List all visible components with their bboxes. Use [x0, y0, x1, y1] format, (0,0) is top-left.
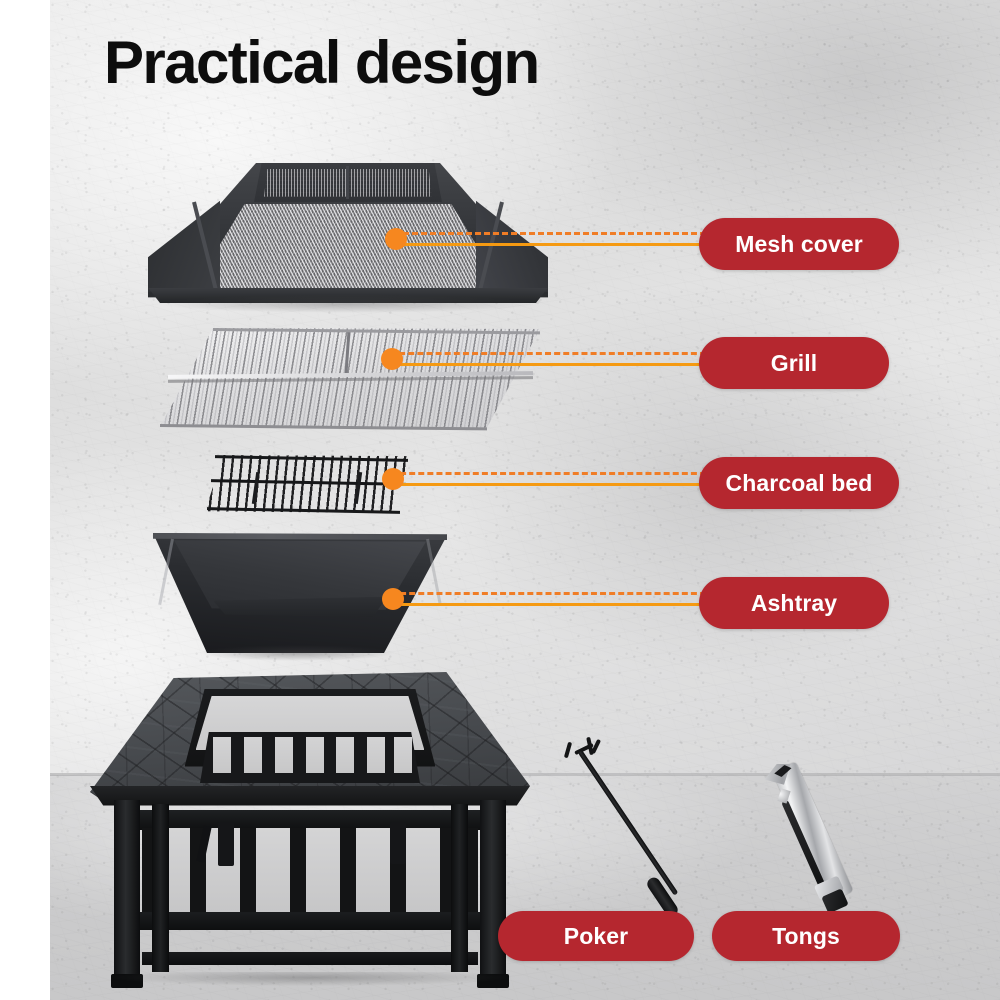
table-bracket-left — [218, 822, 234, 866]
leader-solid-line — [391, 603, 706, 606]
leader-dashed-line — [394, 232, 706, 235]
left-margin-band — [0, 0, 50, 1000]
callout-pill-tongs[interactable]: Tongs — [712, 911, 900, 961]
callout-pill-label: Charcoal bed — [726, 470, 873, 497]
grill-part — [160, 328, 540, 428]
leader-solid-line — [390, 363, 706, 366]
slat-gap — [244, 737, 262, 774]
slat-gap — [275, 737, 293, 774]
poker-tine-outer-left — [564, 742, 572, 758]
callout-pill-poker[interactable]: Poker — [498, 911, 694, 961]
callout-pill-grill[interactable]: Grill — [699, 337, 889, 389]
slat-gap — [394, 737, 412, 774]
table-frame-crossbar — [142, 952, 478, 965]
ashtray-shadow — [198, 645, 396, 661]
slat-gap — [336, 737, 354, 774]
callout-pill-label: Ashtray — [751, 590, 837, 617]
table-lower-slat-rail — [142, 828, 478, 914]
page-title: Practical design — [104, 33, 539, 93]
slat-gap — [256, 828, 290, 914]
table-frame — [114, 800, 506, 982]
callout-pill-label: Tongs — [772, 923, 840, 950]
leader-dashed-line — [391, 592, 706, 595]
leader-anchor-dot — [381, 348, 403, 370]
callout-pill-charcoal-bed[interactable]: Charcoal bed — [699, 457, 899, 509]
product-infographic: Practical design — [0, 0, 1000, 1000]
leader-dashed-line — [390, 352, 706, 355]
mesh-cover-front-mesh — [192, 204, 504, 291]
slat-gap — [213, 737, 231, 774]
slat-gap — [356, 828, 390, 914]
slat-gap — [367, 737, 385, 774]
slat-gap — [406, 828, 440, 914]
table-upper-slat-rail — [200, 732, 420, 783]
leader-anchor-dot — [382, 468, 404, 490]
poker-tine-outer-right — [591, 739, 601, 754]
poker-part — [560, 735, 690, 915]
callout-pill-mesh-cover[interactable]: Mesh cover — [699, 218, 899, 270]
leader-solid-line — [394, 243, 706, 246]
callout-pill-ashtray[interactable]: Ashtray — [699, 577, 889, 629]
mesh-cover-side-right — [476, 201, 548, 292]
table-leg-left — [114, 800, 140, 976]
leader-anchor-dot — [385, 228, 407, 250]
fire-pit-table-part — [90, 672, 530, 982]
table-leg-inner-left — [152, 804, 169, 972]
table-bracket-right — [390, 822, 406, 864]
leader-solid-line — [391, 483, 706, 486]
table-frame-rail-top — [126, 810, 494, 830]
leader-anchor-dot — [382, 588, 404, 610]
mesh-cover-top-divider — [346, 166, 349, 200]
table-leg-inner-right — [451, 804, 468, 972]
table-shadow — [114, 972, 506, 986]
leader-dashed-line — [391, 472, 706, 475]
table-frame-rail-bottom — [126, 912, 494, 930]
mesh-cover-side-left — [148, 201, 220, 292]
tongs-part — [750, 762, 850, 917]
callout-pill-label: Poker — [564, 923, 628, 950]
poker-shaft — [578, 750, 678, 895]
slat-gap — [306, 737, 324, 774]
charcoal-bed-part — [205, 455, 410, 513]
mesh-cover-shadow — [156, 295, 540, 313]
callout-pill-label: Mesh cover — [735, 231, 863, 258]
callout-pill-label: Grill — [771, 350, 818, 377]
slat-gap — [306, 828, 340, 914]
